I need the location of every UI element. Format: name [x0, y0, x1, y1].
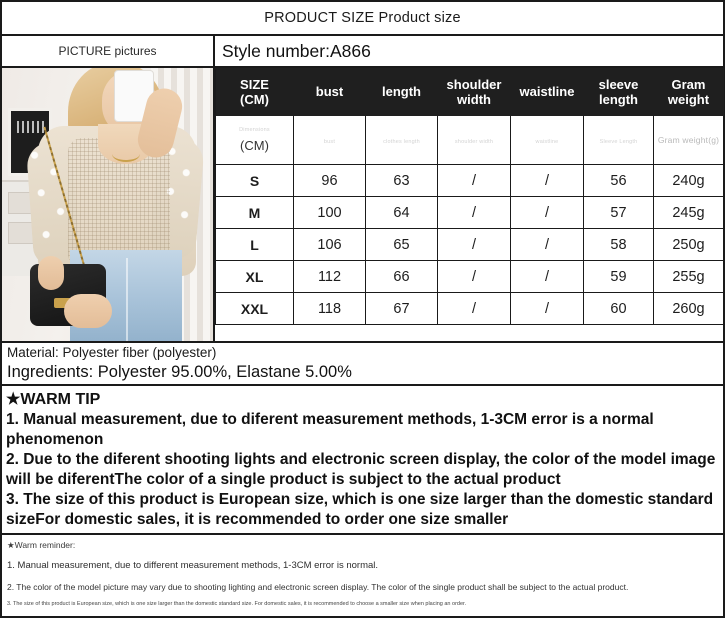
subheader-bust: bust	[294, 116, 366, 165]
cell-size: L	[216, 229, 294, 261]
subheader-size: Dimensions (CM)	[216, 116, 294, 165]
subheader-size-faint: Dimensions	[216, 127, 293, 134]
model-right-hand	[64, 294, 112, 328]
col-header-length: length	[366, 69, 438, 116]
spec-column: Style number:A866 SIZE (CM) bust length	[215, 36, 723, 341]
cell-waistline: /	[511, 293, 584, 325]
subheader-shoulder-label: shoulder width	[455, 139, 493, 145]
cell-length: 67	[366, 293, 438, 325]
subheader-length: clothes length	[366, 116, 438, 165]
warm-tip-item-2: 2. Due to the diferent shooting lights a…	[6, 450, 717, 490]
cell-sleeve: 59	[584, 261, 654, 293]
col-header-shoulder-line2: width	[457, 92, 491, 107]
material-line: Material: Polyester fiber (polyester)	[7, 344, 718, 362]
subheader-size-cm: (CM)	[216, 138, 293, 153]
main-frame: PICTURE pictures	[2, 36, 723, 341]
cell-length: 65	[366, 229, 438, 261]
subheader-gram: Gram weight(g)	[654, 116, 724, 165]
product-size-sheet: PRODUCT SIZE Product size PICTURE pictur…	[0, 0, 725, 618]
cell-gram: 250g	[654, 229, 724, 261]
cell-bust: 100	[294, 197, 366, 229]
cell-waistline: /	[511, 229, 584, 261]
table-row: XL11266//59255g	[216, 261, 724, 293]
cell-length: 64	[366, 197, 438, 229]
col-header-bust: bust	[294, 69, 366, 116]
cell-waistline: /	[511, 197, 584, 229]
cell-shoulder: /	[438, 165, 511, 197]
table-row: L10665//58250g	[216, 229, 724, 261]
warm-tip-block: ★WARM TIP 1. Manual measurement, due to …	[2, 384, 723, 533]
warm-tip-heading: ★WARM TIP	[6, 389, 717, 410]
cell-bust: 96	[294, 165, 366, 197]
subheader-waistline: waistline	[511, 116, 584, 165]
subheader-bust-label: bust	[324, 139, 335, 145]
col-header-gram-weight: Gram weight	[654, 69, 724, 116]
cell-shoulder: /	[438, 293, 511, 325]
size-table: SIZE (CM) bust length shoulder width wai…	[215, 68, 724, 325]
cell-sleeve: 58	[584, 229, 654, 261]
col-header-sleeve-line1: sleeve	[599, 77, 639, 92]
material-block: Material: Polyester fiber (polyester) In…	[2, 341, 723, 384]
col-header-waistline: waistline	[511, 69, 584, 116]
picture-caption-cell: PICTURE pictures	[2, 36, 213, 68]
picture-column: PICTURE pictures	[2, 36, 215, 341]
model-left-hand	[38, 256, 64, 290]
subheader-shoulder: shoulder width	[438, 116, 511, 165]
cell-gram: 245g	[654, 197, 724, 229]
col-header-sleeve-line2: length	[599, 92, 638, 107]
cell-gram: 255g	[654, 261, 724, 293]
fine-print-heading: ★Warm reminder:	[7, 540, 717, 551]
model-necklace	[112, 146, 140, 162]
warm-tip-item-1: 1. Manual measurement, due to diferent m…	[6, 410, 717, 450]
fine-print-item-1: 1. Manual measurement, due to different …	[7, 560, 717, 572]
col-header-shoulder-width: shoulder width	[438, 69, 511, 116]
size-table-subheader-row: Dimensions (CM) bust clothes length shou…	[216, 116, 724, 165]
size-table-header-row: SIZE (CM) bust length shoulder width wai…	[216, 69, 724, 116]
subheader-waistline-label: waistline	[536, 139, 559, 145]
col-header-size-line2: (CM)	[240, 92, 269, 107]
table-row: XXL11867//60260g	[216, 293, 724, 325]
cell-shoulder: /	[438, 197, 511, 229]
col-header-size-line1: SIZE	[240, 77, 269, 92]
col-header-gram-line2: weight	[668, 92, 709, 107]
page-title: PRODUCT SIZE Product size	[264, 10, 461, 26]
subheader-gram-label: Gram weight(g)	[658, 135, 719, 145]
cell-length: 66	[366, 261, 438, 293]
cell-bust: 118	[294, 293, 366, 325]
cell-gram: 240g	[654, 165, 724, 197]
cell-size: XL	[216, 261, 294, 293]
fine-print-item-2: 2. The color of the model picture may va…	[7, 582, 717, 593]
page-title-row: PRODUCT SIZE Product size	[2, 2, 723, 36]
subheader-sleeve: Sleeve Length	[584, 116, 654, 165]
product-photo	[2, 68, 213, 341]
size-table-body: Dimensions (CM) bust clothes length shou…	[216, 116, 724, 325]
subheader-sleeve-label: Sleeve Length	[600, 139, 638, 145]
col-header-size: SIZE (CM)	[216, 69, 294, 116]
warm-tip-item-3: 3. The size of this product is European …	[6, 490, 717, 530]
style-number-cell: Style number:A866	[215, 36, 723, 68]
ingredients-line: Ingredients: Polyester 95.00%, Elastane …	[7, 362, 718, 383]
col-header-gram-line1: Gram	[672, 77, 706, 92]
table-row: M10064//57245g	[216, 197, 724, 229]
size-table-head: SIZE (CM) bust length shoulder width wai…	[216, 69, 724, 116]
cell-bust: 112	[294, 261, 366, 293]
picture-caption-label: PICTURE pictures	[58, 44, 156, 58]
cell-shoulder: /	[438, 261, 511, 293]
cell-size: S	[216, 165, 294, 197]
col-header-sleeve-length: sleeve length	[584, 69, 654, 116]
cell-waistline: /	[511, 165, 584, 197]
cell-sleeve: 57	[584, 197, 654, 229]
subheader-length-label: clothes length	[383, 139, 420, 145]
col-header-shoulder-line1: shoulder	[447, 77, 502, 92]
cell-sleeve: 60	[584, 293, 654, 325]
fine-print-item-3: 3. The size of this product is European …	[7, 601, 717, 608]
cell-shoulder: /	[438, 229, 511, 261]
cell-length: 63	[366, 165, 438, 197]
cell-sleeve: 56	[584, 165, 654, 197]
cell-bust: 106	[294, 229, 366, 261]
style-number-label: Style number:A866	[222, 41, 371, 62]
table-row: S9663//56240g	[216, 165, 724, 197]
cell-waistline: /	[511, 261, 584, 293]
fine-print-block: ★Warm reminder: 1. Manual measurement, d…	[2, 533, 723, 609]
cell-gram: 260g	[654, 293, 724, 325]
cell-size: XXL	[216, 293, 294, 325]
cell-size: M	[216, 197, 294, 229]
